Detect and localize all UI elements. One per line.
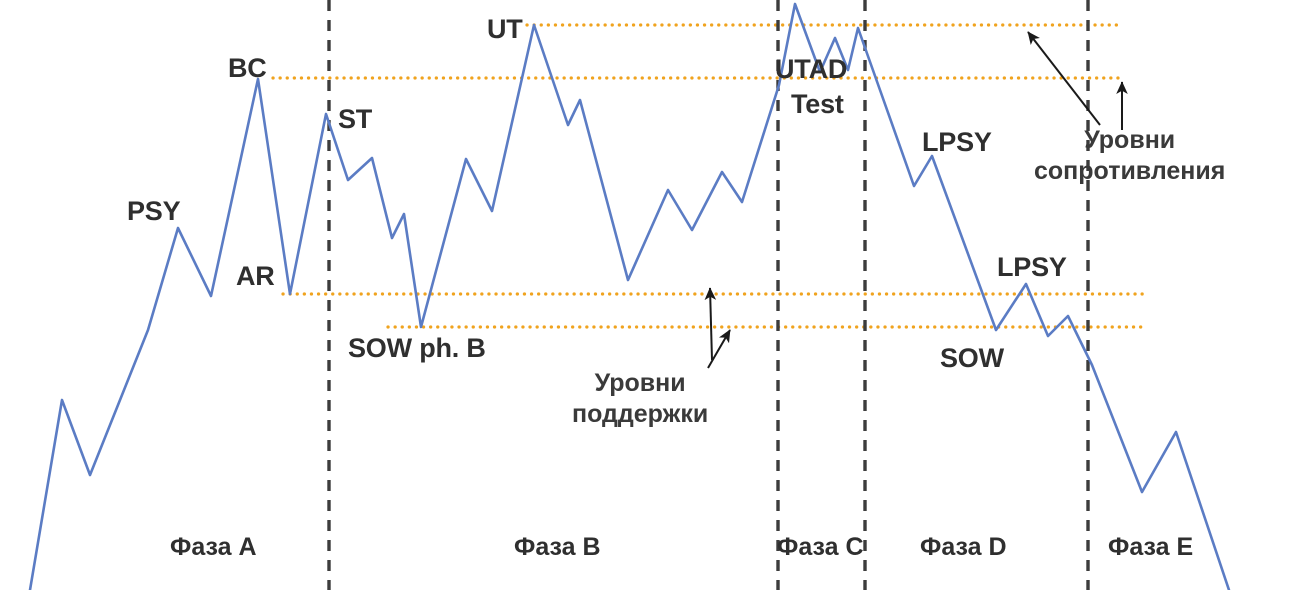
annotation-arrows <box>708 32 1122 368</box>
price-polyline-price <box>30 4 1229 590</box>
chart-canvas <box>0 0 1300 590</box>
price-level-lines <box>273 25 1146 327</box>
support-arrow-1 <box>710 288 712 360</box>
price-curve <box>30 4 1229 590</box>
wyckoff-distribution-chart: PSYBCSTARSOW ph. BUTUTADTestLPSYLPSYSOW … <box>0 0 1300 590</box>
